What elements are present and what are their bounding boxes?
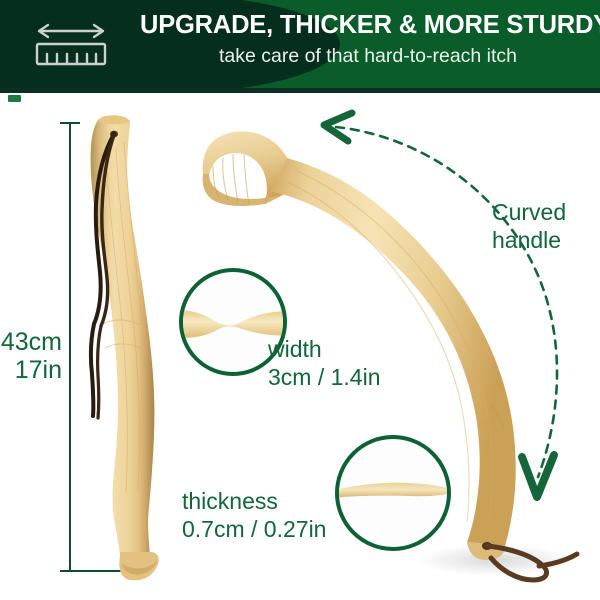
length-measure-label: 43cm 17in [0,328,62,384]
measure-vertical-line [69,122,71,572]
header-banner: UPGRADE, THICKER & MORE STURDY take care… [0,0,600,88]
curved-handle-label: Curved handle [492,198,597,254]
thickness-value: 0.7cm / 0.27in [182,515,402,543]
curved-handle-line1: Curved [492,198,597,226]
subheadline: take care of that hard-to-reach itch [140,42,596,70]
product-infographic: UPGRADE, THICKER & MORE STURDY take care… [0,0,600,600]
headline: UPGRADE, THICKER & MORE STURDY [140,8,596,42]
banner-text-group: UPGRADE, THICKER & MORE STURDY take care… [140,8,596,70]
banner-bottom-strip [0,88,600,93]
length-imperial: 17in [0,356,62,384]
curved-handle-line2: handle [492,226,597,254]
ruler-measure-icon [26,18,116,70]
length-metric: 43cm [0,328,62,356]
decorative-speck [8,95,21,102]
curved-handle-arrow [290,105,600,515]
